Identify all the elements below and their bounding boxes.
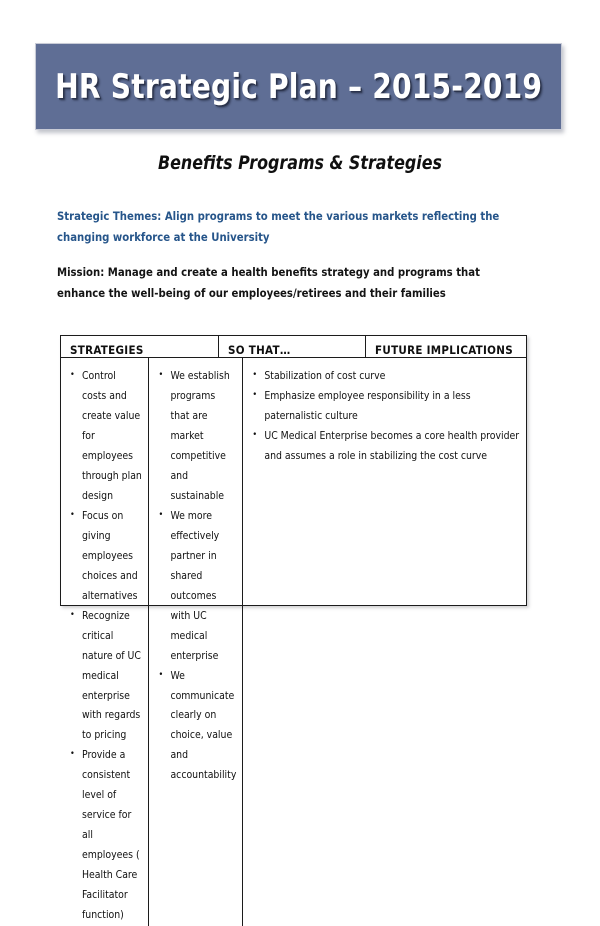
document-page: HR Strategic Plan – 2015-2019 Benefits P…	[0, 0, 600, 730]
strategies-list: Control costs and create value for emplo…	[61, 358, 148, 926]
so-that-list: We establish programs that are market co…	[149, 358, 242, 786]
list-item: Emphasize employee responsibility in a l…	[263, 387, 520, 427]
future-implications-list: Stabilization of cost curve Emphasize em…	[243, 358, 526, 467]
table-header-cell-so-that: SO THAT…	[218, 336, 366, 357]
header-banner: HR Strategic Plan – 2015-2019	[35, 43, 562, 130]
list-item: Provide a consistent level of service fo…	[81, 746, 142, 926]
table-body-row: Control costs and create value for emplo…	[61, 358, 526, 926]
table-cell-future-implications: Stabilization of cost curve Emphasize em…	[243, 358, 526, 926]
strategic-themes-paragraph: Strategic Themes: Align programs to meet…	[57, 206, 519, 249]
list-item: Stabilization of cost curve	[263, 367, 520, 387]
column-header-label: SO THAT…	[219, 336, 365, 357]
list-item: Recognize critical nature of UC medical …	[81, 607, 142, 747]
subtitle-heading: Benefits Programs & Strategies	[21, 152, 579, 174]
table-header-row: STRATEGIES SO THAT… FUTURE IMPLICATIONS	[61, 336, 526, 358]
strategy-table: STRATEGIES SO THAT… FUTURE IMPLICATIONS …	[60, 335, 527, 606]
table-cell-strategies: Control costs and create value for emplo…	[61, 358, 148, 926]
list-item: We establish programs that are market co…	[169, 367, 236, 507]
column-header-label: FUTURE IMPLICATIONS	[366, 336, 526, 357]
list-item: We communicate clearly on choice, value …	[169, 667, 236, 787]
list-item: Focus on giving employees choices and al…	[81, 507, 142, 607]
page-title: HR Strategic Plan – 2015-2019	[55, 67, 542, 107]
table-header-cell-strategies: STRATEGIES	[61, 336, 218, 357]
list-item: UC Medical Enterprise becomes a core hea…	[263, 427, 520, 467]
list-item: We more effectively partner in shared ou…	[169, 507, 236, 667]
column-header-label: STRATEGIES	[61, 336, 218, 357]
list-item: Control costs and create value for emplo…	[81, 367, 142, 507]
table-header-cell-future-implications: FUTURE IMPLICATIONS	[366, 336, 526, 357]
table-cell-so-that: We establish programs that are market co…	[148, 358, 243, 926]
mission-paragraph: Mission: Manage and create a health bene…	[57, 262, 519, 305]
